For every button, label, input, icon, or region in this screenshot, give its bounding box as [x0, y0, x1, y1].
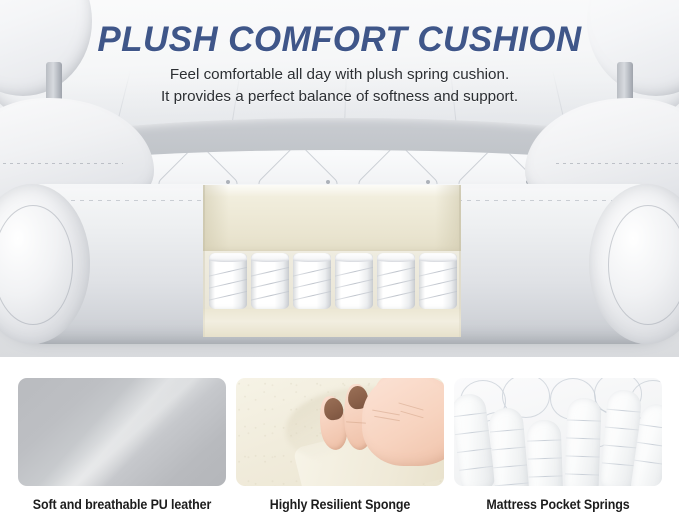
swatch-item-pu-leather: Soft and breathable PU leather [18, 378, 226, 512]
pocket-spring [419, 253, 457, 309]
pocket-spring-row [203, 251, 461, 311]
material-swatch-row: Soft and breathable PU leather [0, 357, 679, 522]
swatch-item-sponge: Highly Resilient Sponge [236, 378, 444, 512]
subtitle-line-1: Feel comfortable all day with plush spri… [0, 64, 679, 86]
swatch-caption: Mattress Pocket Springs [461, 497, 654, 512]
swatch-caption: Highly Resilient Sponge [243, 497, 436, 512]
foam-layer-base [203, 309, 461, 337]
hero-product-image: PLUSH COMFORT CUSHION Feel comfortable a… [0, 0, 679, 357]
pocket-spring [335, 253, 373, 309]
pocket-spring [377, 253, 415, 309]
page-title: PLUSH COMFORT CUSHION [0, 20, 679, 60]
pocket-spring [527, 419, 564, 486]
cushion-cutaway-section [203, 185, 461, 337]
swatch-caption: Soft and breathable PU leather [25, 497, 218, 512]
pocket-spring [488, 407, 530, 486]
hand-icon [316, 378, 444, 486]
pu-leather-swatch [18, 378, 226, 486]
hand-pressing-foam-photo [236, 378, 444, 486]
pocket-spring [209, 253, 247, 309]
foam-layer-top [203, 185, 461, 253]
pocket-spring [293, 253, 331, 309]
subtitle-line-2: It provides a perfect balance of softnes… [0, 86, 679, 108]
pocket-spring [251, 253, 289, 309]
pocket-spring [564, 397, 601, 486]
swatch-item-pocket-springs: Mattress Pocket Springs [454, 378, 662, 512]
infographic-page: PLUSH COMFORT CUSHION Feel comfortable a… [0, 0, 679, 522]
page-subtitle: Feel comfortable all day with plush spri… [0, 64, 679, 108]
pocket-springs-photo [454, 378, 662, 486]
